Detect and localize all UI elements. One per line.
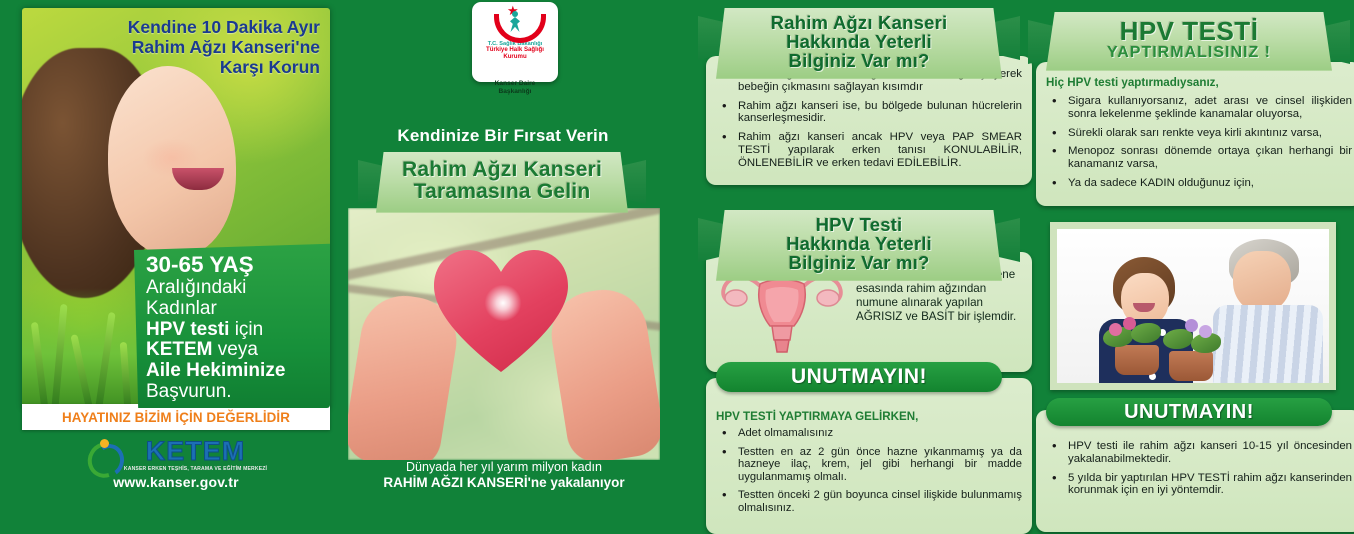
department-line-2: Başkanlığı [472,88,558,96]
list-item: Menopoz sonrası dönemde ortaya çıkan her… [1046,145,1352,171]
reminder-title-pill-col3: UNUTMAYIN! [716,362,1002,392]
hpv-indications-card: Hiç HPV testi yaptırmadıysanız, Sigara k… [1036,62,1354,206]
cervical-cancer-banner: Rahim Ağzı Kanseri Hakkında Yeterli Bilg… [716,8,1002,79]
callout-line-4-rest: için [229,319,263,340]
ketem-wordmark: KETEM [146,439,246,465]
ministry-department-label: Kanser Daire Başkanlığı [472,80,558,96]
heart-sparkle [482,282,524,324]
callout-hpv-label: HPV testi [146,319,229,340]
list-item: Sigara kullanıyorsanız, adet arası ve ci… [1046,95,1352,121]
list-item: Testten en az 2 gün önce hazne yıkanmamı… [716,446,1022,484]
left-headline-line-1: Kendine 10 Dakika Ayır [38,18,320,38]
list-item: Rahim ağzı kanseri ancak HPV veya PAP SM… [716,131,1022,169]
reminder-card-col4: HPV testi ile rahim ağzı kanseri 10-15 y… [1036,410,1354,532]
list-item: Sürekli olarak sarı renkte veya kirli ak… [1046,127,1352,140]
callout-line-2: Aralığındaki [146,278,330,299]
elderly-couple-photo [1050,222,1336,390]
ministry-emblem-icon: ★ [492,6,538,40]
cervical-cancer-bullet-list: Rahim ağzı, rahmin doğum sırasında geniş… [716,68,1022,169]
list-item: HPV testi ile rahim ağzı kanseri 10-15 y… [1046,440,1352,466]
left-callout-box: 30-65 YAŞ Aralığındaki Kadınlar HPV test… [134,243,330,408]
hpv-indications-intro: Hiç HPV testi yaptırmadıysanız, [1046,76,1352,89]
reminder-bullet-list-col3: Adet olmamalısınız Testten en az 2 gün ö… [716,427,1022,514]
callout-line-7: Başvurun. [146,382,330,403]
middle-kicker: Kendinize Bir Fırsat Verin [348,126,658,146]
ketem-figure-icon [85,439,119,473]
ketem-website-url[interactable]: www.kanser.gov.tr [113,474,239,490]
middle-banner-line-1: Rahim Ağzı Kanseri [390,159,614,181]
flower-bloom [1123,317,1136,330]
reminder-title-pill-col4: UNUTMAYIN! [1046,398,1332,426]
callout-age-range: 30-65 YAŞ [146,253,330,278]
flower-bloom [1185,319,1198,332]
callout-line-6: Aile Hekiminize [146,361,330,382]
left-headline-line-2: Rahim Ağzı Kanseri'ne [38,38,320,58]
flower-pot [1115,345,1159,375]
reminder-title-col4: UNUTMAYIN! [1124,401,1254,424]
hpv-test-cta-banner: HPV TESTİ YAPTIRMALISINIZ ! [1046,12,1332,71]
hpv-indications-bullet-list: Sigara kullanıyorsanız, adet arası ve ci… [1046,95,1352,190]
hpv-test-banner: HPV Testi Hakkında Yeterli Bilginiz Var … [716,210,1002,281]
left-panel-photo-card: Kendine 10 Dakika Ayır Rahim Ağzı Kanser… [22,8,330,408]
banner-line-3: Bilginiz Var mı? [728,51,990,70]
heart-hands-photo [348,208,660,460]
man-figure [1213,239,1323,390]
middle-banner-line-2: Taramasına Gelin [390,181,614,203]
callout-line-3: Kadınlar [146,299,330,320]
middle-caption: Dünyada her yıl yarım milyon kadın RAHİM… [348,460,660,491]
reminder-card-col3: HPV TESTİ YAPTIRMAYA GELİRKEN, Adet olma… [706,378,1032,534]
poster-root: Kendine 10 Dakika Ayır Rahim Ağzı Kanser… [0,0,1354,502]
ketem-subtitle: KANSER ERKEN TEŞHİS, TARAMA VE EĞİTİM ME… [124,466,267,472]
list-item: 5 yılda bir yaptırılan HPV TESTİ rahim a… [1046,472,1352,498]
left-headline-line-3: Karşı Korun [38,58,320,78]
middle-caption-line-2: RAHİM AĞZI KANSERİ'ne yakalanıyor [348,475,660,491]
department-line-1: Kanser Daire [472,80,558,88]
banner-line-1: HPV Testi [728,215,990,234]
banner-line-3: Bilginiz Var mı? [728,253,990,272]
reminder-title-col3: UNUTMAYIN! [791,365,927,389]
ketem-logo-block: KETEM KANSER ERKEN TEŞHİS, TARAMA VE EĞİ… [22,430,330,498]
banner-line-1: Rahim Ağzı Kanseri [728,13,990,32]
list-item: Ya da sadece KADIN olduğunuz için, [1046,177,1352,190]
callout-line-5-rest: veya [213,339,258,360]
cta-banner-line-1: HPV TESTİ [1058,18,1320,45]
middle-banner: Rahim Ağzı Kanseri Taramasına Gelin [376,152,628,213]
reminder-bullet-list-col4: HPV testi ile rahim ağzı kanseri 10-15 y… [1046,440,1352,497]
callout-ketem-label: KETEM [146,339,213,360]
flower-pot [1169,351,1213,381]
ministry-line-3: Kurumu [486,54,544,61]
left-headline: Kendine 10 Dakika Ayır Rahim Ağzı Kanser… [38,18,320,78]
middle-kicker-text: Kendinize Bir Fırsat Verin [348,126,658,146]
cta-banner-line-2: YAPTIRMALISINIZ ! [1058,45,1320,62]
flower-bloom [1199,325,1212,338]
ministry-of-health-logo: ★ T.C. Sağlık Bakanlığı Türkiye Halk Sağ… [472,2,558,82]
left-tagline-text: HAYATINIZ BİZİM İÇİN DEĞERLİDİR [62,410,290,425]
list-item: Adet olmamalısınız [716,427,1022,440]
banner-line-2: Hakkında Yeterli [728,32,990,51]
flower-bloom [1109,323,1122,336]
list-item: Rahim ağzı kanseri ise, bu bölgede bulun… [716,100,1022,126]
banner-line-2: Hakkında Yeterli [728,234,990,253]
middle-caption-line-1: Dünyada her yıl yarım milyon kadın [348,460,660,475]
reminder-subtitle-col3: HPV TESTİ YAPTIRMAYA GELİRKEN, [716,410,1022,423]
